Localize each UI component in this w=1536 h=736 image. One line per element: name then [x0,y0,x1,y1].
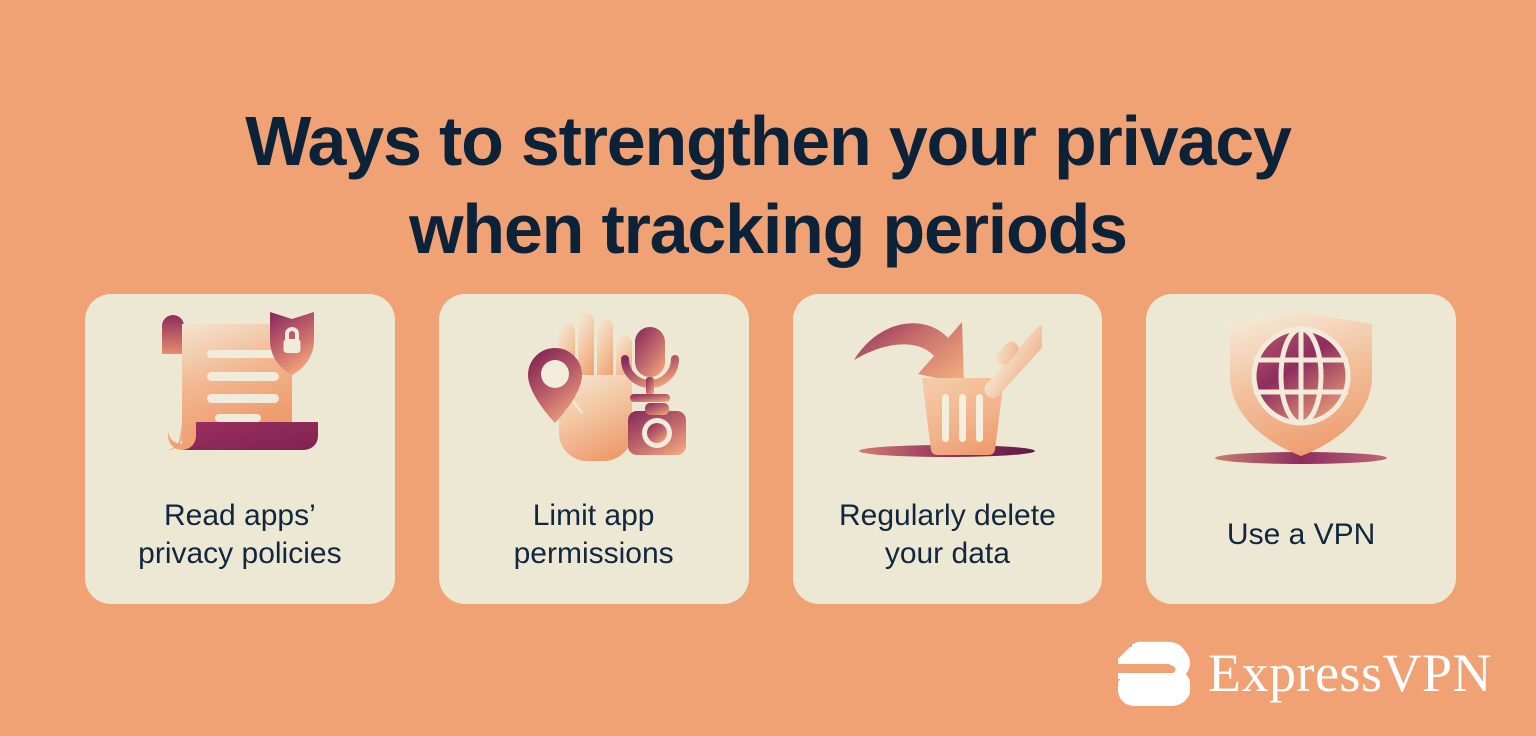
lock-glyph [283,327,300,353]
scroll-document-shield-lock-icon [152,310,328,470]
card-icon-wrapper [85,294,395,480]
trash-bin-arrow-icon [852,312,1042,468]
curved-arrow-glyph [854,322,964,384]
card-icon-wrapper [439,294,749,480]
card-icon-wrapper [1146,294,1456,480]
title-line-2: when tracking periods [0,185,1536,273]
microphone-icon [625,327,675,402]
card-limit-app-permissions: Limit app permissions [439,294,749,604]
camera-icon [628,403,686,455]
card-label: Regularly delete your data [829,480,1066,604]
card-read-privacy-policies: Read apps’ privacy policies [85,294,395,604]
card-use-a-vpn: Use a VPN [1146,294,1456,604]
card-label: Read apps’ privacy policies [128,480,351,604]
raised-hand-permissions-icon [501,311,687,469]
shield-globe-icon [1208,310,1394,470]
expressvpn-wordmark: ExpressVPN [1208,646,1492,700]
expressvpn-logo: ExpressVPN [1118,632,1448,714]
page-title: Ways to strengthen your privacy when tra… [0,97,1536,273]
card-icon-wrapper [793,294,1103,480]
card-label: Limit app permissions [504,480,684,604]
title-line-1: Ways to strengthen your privacy [0,97,1536,185]
card-regularly-delete-data: Regularly delete your data [793,294,1103,604]
card-label: Use a VPN [1217,480,1385,604]
globe-glyph [1254,329,1348,423]
expressvpn-e-mark-icon [1118,640,1190,706]
tips-card-row: Read apps’ privacy policies [85,294,1456,604]
infographic-poster: Ways to strengthen your privacy when tra… [0,0,1536,736]
